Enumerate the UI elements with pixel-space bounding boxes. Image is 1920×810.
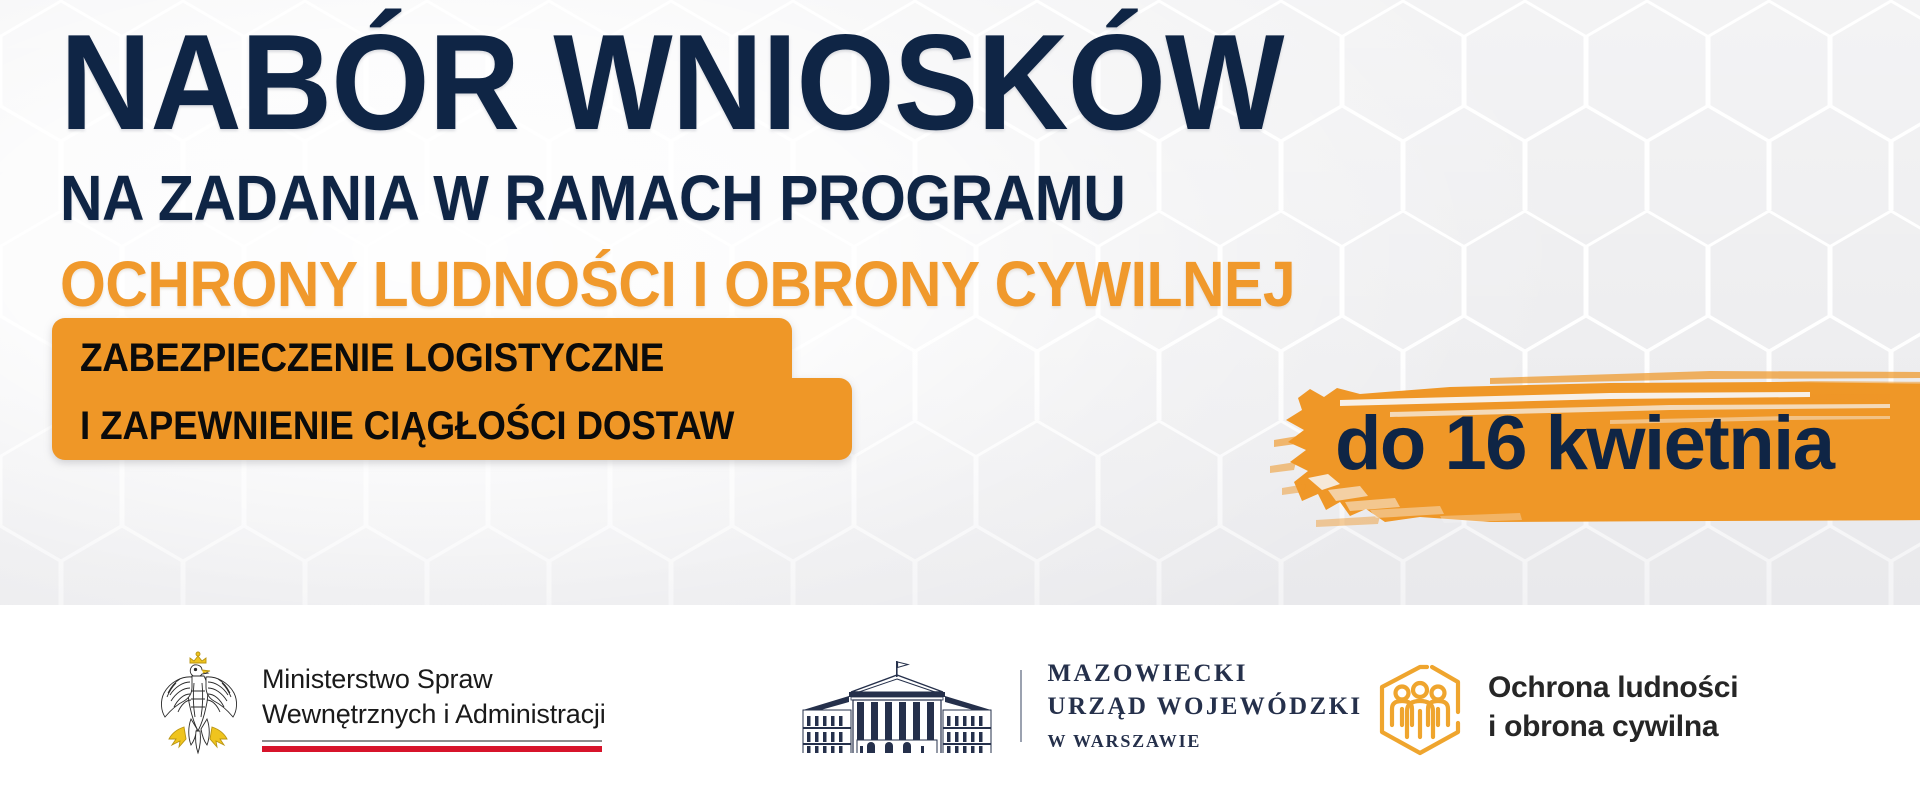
warsaw-palace-building-icon	[795, 658, 1000, 753]
footer-logo-bar: Ministerstwo Spraw Wewnętrznych i Admini…	[0, 605, 1920, 810]
headline-block: NABÓR WNIOSKÓW NA ZADANIA W RAMACH PROGR…	[60, 14, 1560, 316]
deadline-brush-block: do 16 kwietnia	[1190, 370, 1920, 530]
logo-muw: MAZOWIECKI URZĄD WOJEWÓDZKI W WARSZAWIE	[795, 657, 1363, 754]
muw-line-2: URZĄD WOJEWÓDZKI	[1048, 690, 1363, 723]
page-subtitle: NA ZADANIA W RAMACH PROGRAMU	[60, 166, 1440, 230]
polish-eagle-emblem-icon	[150, 649, 246, 765]
mswia-line-1: Ministerstwo Spraw	[262, 662, 606, 697]
logo-mswia: Ministerstwo Spraw Wewnętrznych i Admini…	[150, 649, 606, 765]
muw-line-3: W WARSZAWIE	[1048, 729, 1363, 754]
olioc-text-block: Ochrona ludności i obrona cywilna	[1488, 668, 1738, 746]
program-name-text: OCHRONY LUDNOŚCI I OBRONY CYWILNEJ	[60, 252, 1440, 316]
page-title: NABÓR WNIOSKÓW	[60, 14, 1455, 150]
scope-badge: ZABEZPIECZENIE LOGISTYCZNE I ZAPEWNIENIE…	[52, 318, 852, 460]
rule-grey-line	[262, 740, 602, 742]
muw-text-block: MAZOWIECKI URZĄD WOJEWÓDZKI W WARSZAWIE	[1048, 657, 1363, 754]
rule-red-line	[262, 746, 602, 752]
mswia-flag-rule	[262, 740, 602, 752]
mswia-line-2: Wewnętrznych i Administracji	[262, 697, 606, 732]
banner-root: NABÓR WNIOSKÓW NA ZADANIA W RAMACH PROGR…	[0, 0, 1920, 810]
olioc-line-2: i obrona cywilna	[1488, 707, 1738, 746]
deadline-text: do 16 kwietnia	[1335, 406, 1834, 482]
mswia-text-block: Ministerstwo Spraw Wewnętrznych i Admini…	[262, 662, 606, 752]
logo-ochrona-ludnosci: Ochrona ludności i obrona cywilna	[1370, 657, 1738, 757]
hexagon-people-shield-icon	[1370, 657, 1470, 757]
muw-divider	[1020, 670, 1022, 742]
badge-line-1: ZABEZPIECZENIE LOGISTYCZNE	[80, 338, 664, 378]
muw-line-1: MAZOWIECKI	[1048, 657, 1363, 690]
badge-line-2: I ZAPEWNIENIE CIĄGŁOŚCI DOSTAW	[80, 406, 734, 446]
olioc-line-1: Ochrona ludności	[1488, 668, 1738, 707]
